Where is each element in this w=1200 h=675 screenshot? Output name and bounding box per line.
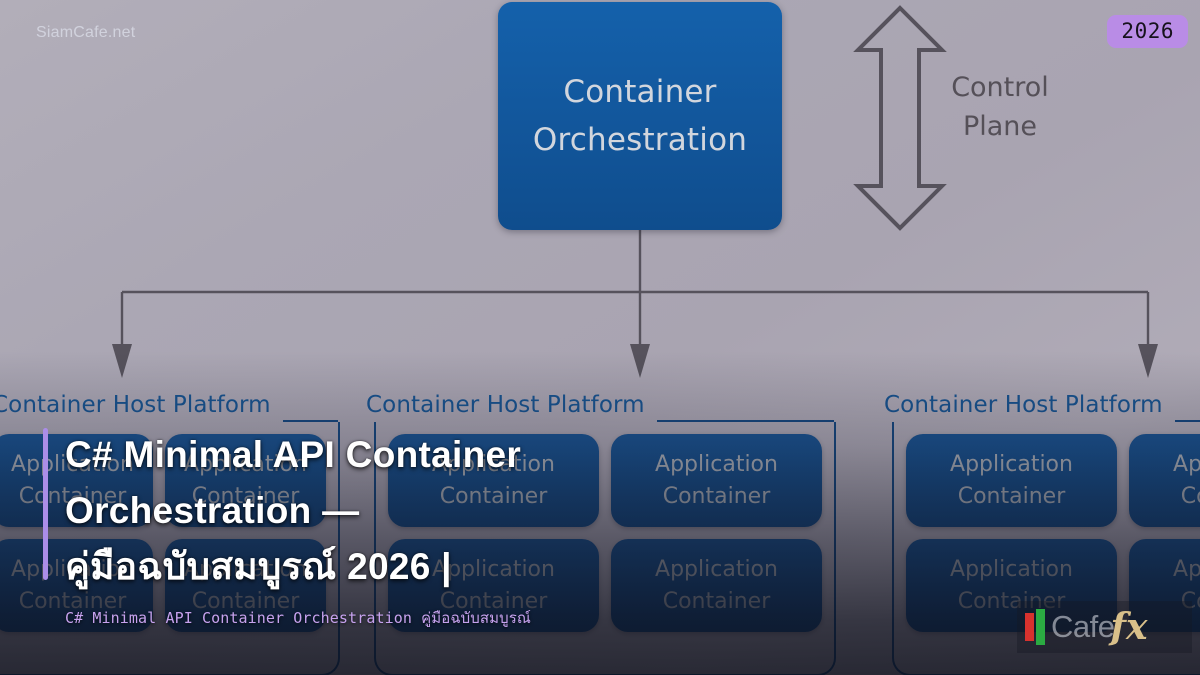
- orchestration-line1: Container: [563, 74, 716, 110]
- host-platform-title: Container Host Platform: [0, 392, 271, 418]
- page-title: C# Minimal API Container Orchestration —…: [65, 427, 743, 596]
- app-container-line1: Application: [1173, 452, 1200, 477]
- host-frame-top-segment: [657, 420, 834, 422]
- slide-canvas: Container Orchestration Control Plane Co…: [0, 0, 1200, 675]
- orchestration-line2: Orchestration: [533, 122, 747, 158]
- container-orchestration-node: Container Orchestration: [498, 2, 782, 230]
- title-block: C# Minimal API Container Orchestration —…: [43, 427, 743, 630]
- control-plane-line1: Control: [951, 72, 1049, 103]
- page-subtitle: C# Minimal API Container Orchestration ค…: [65, 606, 743, 630]
- title-line-1: C# Minimal API Container: [65, 434, 521, 475]
- application-container: ApplicationContainer: [906, 434, 1117, 527]
- app-container-line2: Container: [958, 484, 1066, 509]
- app-container-line2: Container: [1181, 484, 1200, 509]
- app-container-line1: Application: [950, 557, 1073, 582]
- site-watermark: SiamCafe.net: [36, 24, 135, 42]
- host-platform-title: Container Host Platform: [366, 392, 645, 418]
- year-badge: 2026: [1107, 15, 1188, 48]
- accent-bar: [43, 428, 48, 580]
- candlestick-red-icon: [1025, 613, 1034, 641]
- orchestration-label: Container Orchestration: [533, 68, 747, 164]
- cafefx-logo: Cafe fx: [1017, 601, 1192, 653]
- host-platform-title: Container Host Platform: [884, 392, 1163, 418]
- host-frame-top-segment: [1175, 420, 1200, 422]
- application-container: ApplicationContainer: [1129, 434, 1200, 527]
- app-container-line1: Application: [1173, 557, 1200, 582]
- control-plane-line2: Plane: [963, 111, 1037, 142]
- app-container-line1: Application: [950, 452, 1073, 477]
- logo-fx: fx: [1110, 606, 1147, 648]
- logo-word: Cafe: [1051, 609, 1114, 645]
- control-plane-label: Control Plane: [930, 68, 1070, 146]
- candlestick-green-icon: [1036, 609, 1045, 645]
- title-line-3: คู่มือฉบับสมบูรณ์ 2026 |: [65, 546, 452, 587]
- host-frame-top-segment: [283, 420, 338, 422]
- title-line-2: Orchestration —: [65, 490, 359, 531]
